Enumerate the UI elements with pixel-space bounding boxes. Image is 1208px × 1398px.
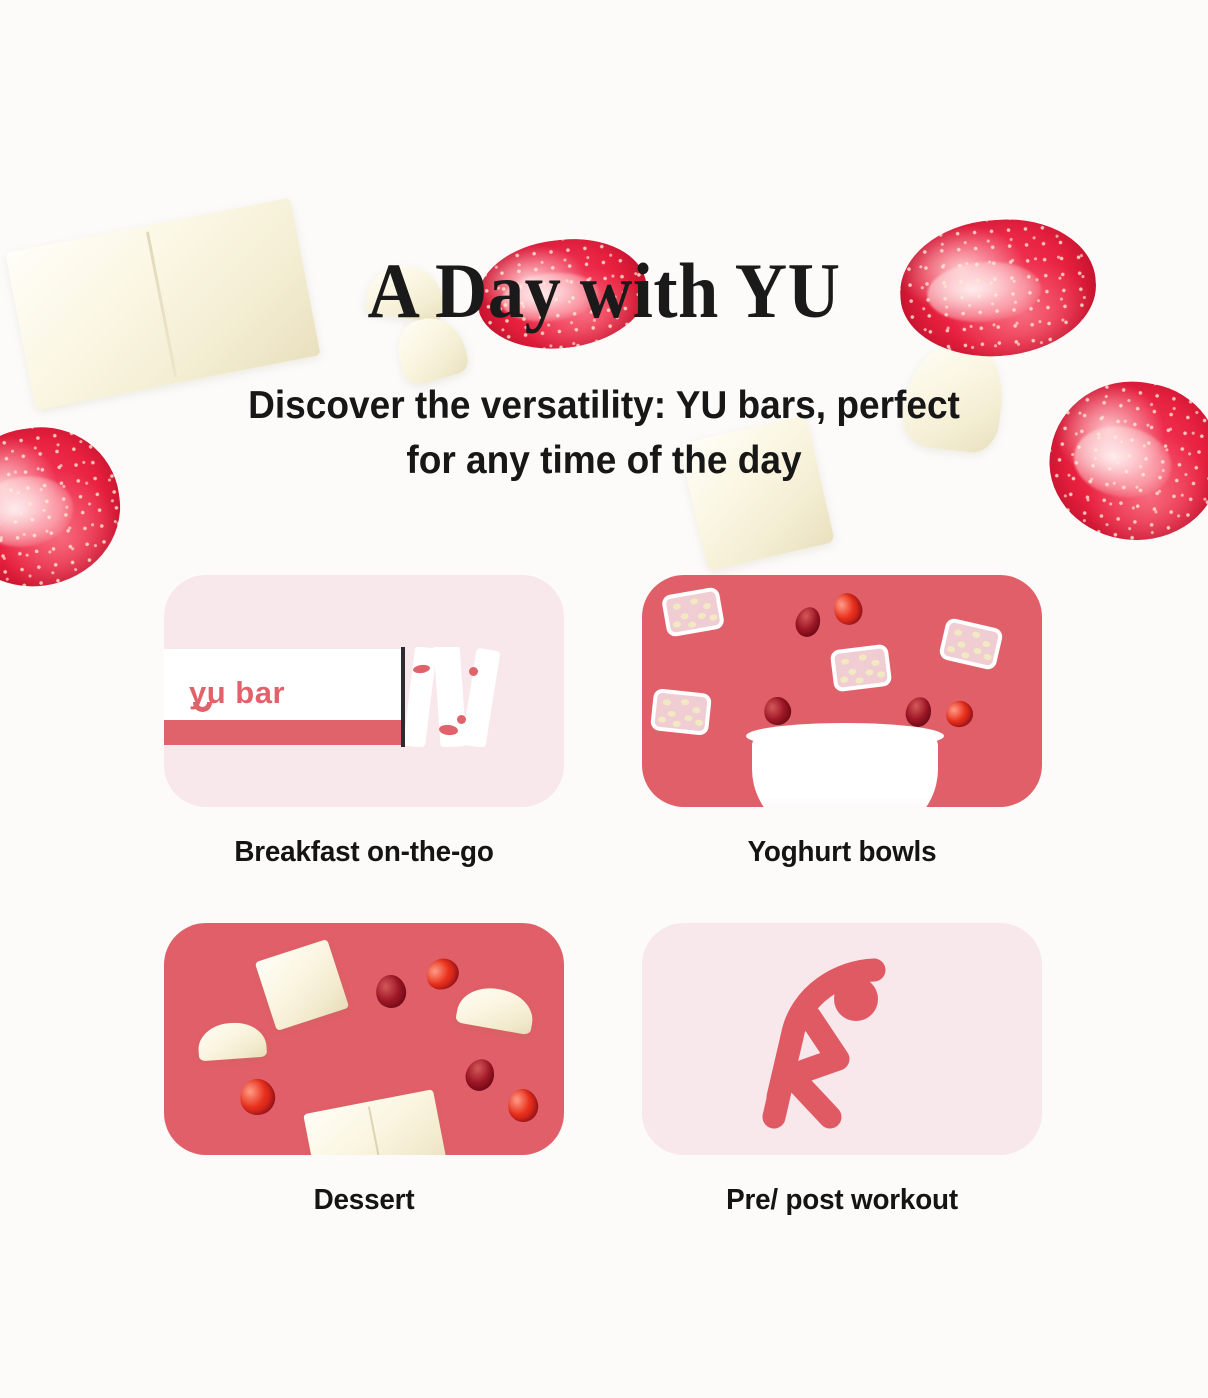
berry-icon (903, 694, 934, 729)
bar-wrapper-stripe (164, 720, 402, 745)
page-subtitle-line-1: Discover the versatility: YU bars, perfe… (196, 378, 1013, 433)
dessert-illustration (164, 923, 564, 1155)
card-caption: Breakfast on-the-go (172, 836, 556, 869)
page-subtitle: Discover the versatility: YU bars, perfe… (196, 378, 1013, 489)
breakfast-illustration: yu bar (164, 575, 564, 807)
workout-illustration (642, 923, 1042, 1155)
header-block: A Day with YU Discover the versatility: … (0, 252, 1208, 489)
usage-card-yoghurt[interactable]: Yoghurt bowls (642, 575, 1042, 869)
page-title: A Day with YU (42, 252, 1165, 330)
yu-bar-package-icon: yu bar (164, 649, 512, 745)
bar-logo: yu bar (189, 677, 285, 708)
yoghurt-illustration (642, 575, 1042, 807)
usage-card-dessert[interactable]: Dessert (164, 923, 564, 1217)
usage-card-workout[interactable]: Pre/ post workout (642, 923, 1042, 1217)
bar-piece-icon (650, 688, 712, 736)
white-chocolate-slab-icon (303, 1089, 449, 1155)
bar-piece-icon (938, 617, 1004, 671)
page-subtitle-line-2: for any time of the day (196, 433, 1013, 488)
figure-head (834, 977, 878, 1021)
berry-icon (236, 1075, 280, 1119)
bar-open-contents (405, 647, 505, 747)
white-chocolate-chunk-icon (455, 982, 537, 1035)
berry-icon (829, 589, 867, 629)
card-caption: Dessert (172, 1184, 556, 1217)
usage-card-breakfast[interactable]: yu bar Breakfast on-the-go (164, 575, 564, 869)
berry-icon (760, 693, 794, 728)
white-chocolate-chunk-icon (197, 1020, 267, 1061)
usage-card-grid: yu bar Breakfast on-the-go (164, 575, 1044, 1217)
berry-icon (373, 972, 408, 1010)
card-caption: Pre/ post workout (650, 1184, 1034, 1217)
berry-icon (462, 1056, 498, 1094)
card-caption: Yoghurt bowls (650, 836, 1034, 869)
berry-icon (505, 1086, 541, 1125)
stretching-person-icon (738, 951, 946, 1135)
berry-icon (943, 698, 975, 730)
bar-piece-icon (830, 643, 893, 692)
bar-piece-icon (661, 586, 725, 637)
berry-icon (421, 953, 464, 995)
berry-icon (793, 604, 824, 639)
yoghurt-bowl-icon (752, 735, 938, 807)
white-chocolate-chunk-icon (255, 939, 350, 1031)
